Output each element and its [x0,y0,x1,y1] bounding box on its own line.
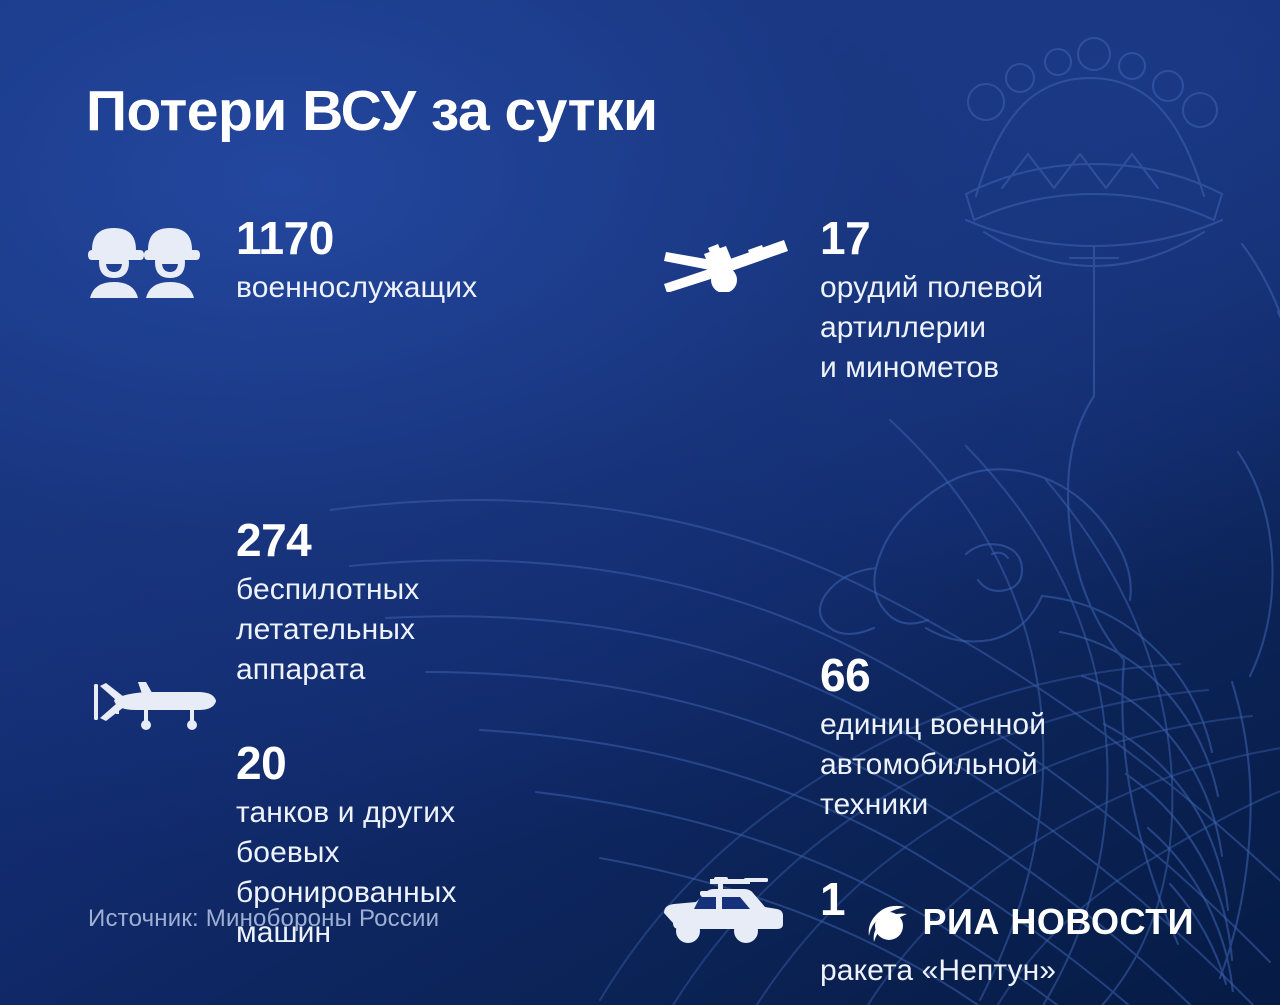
stat-label: орудий полевой артиллерии и минометов [820,268,1180,388]
stat-label: ракета «Нептун» [820,951,1180,991]
stat-artillery: 17 орудий полевой артиллерии и минометов [660,212,1180,427]
stat-uav: 274 беспилотных летательных аппарата [86,514,606,739]
two-soldiers-icon [86,226,204,303]
field-gun-icon [660,220,792,297]
drone-icon [86,674,216,741]
ria-swoosh-icon [867,901,909,943]
stat-value: 17 [820,212,1180,264]
page-title: Потери ВСУ за сутки [86,78,658,144]
stat-label: беспилотных летательных аппарата [236,570,606,690]
ria-novosti-logo: РИА НОВОСТИ [867,901,1194,943]
stats-column-right: 17 орудий полевой артиллерии и минометов [660,212,1180,991]
infographic-poster: Потери ВСУ за сутки 1170 военносл [0,0,1280,1005]
stat-label: военнослужащих [236,268,606,308]
stat-value: 1170 [236,212,606,264]
source-caption: Источник: Минобороны России [88,905,439,933]
ria-novosti-wordmark: РИА НОВОСТИ [923,901,1194,943]
stat-personnel: 1170 военнослужащих [86,212,606,362]
stat-vehicles: 66 единиц военной автомобильной техники [660,649,1180,879]
stat-value: 274 [236,514,606,566]
stats-column-left: 1170 военнослужащих [86,212,606,953]
stat-label: единиц военной автомобильной техники [820,705,1180,825]
stat-value: 66 [820,649,1180,701]
stat-value: 20 [236,737,606,789]
